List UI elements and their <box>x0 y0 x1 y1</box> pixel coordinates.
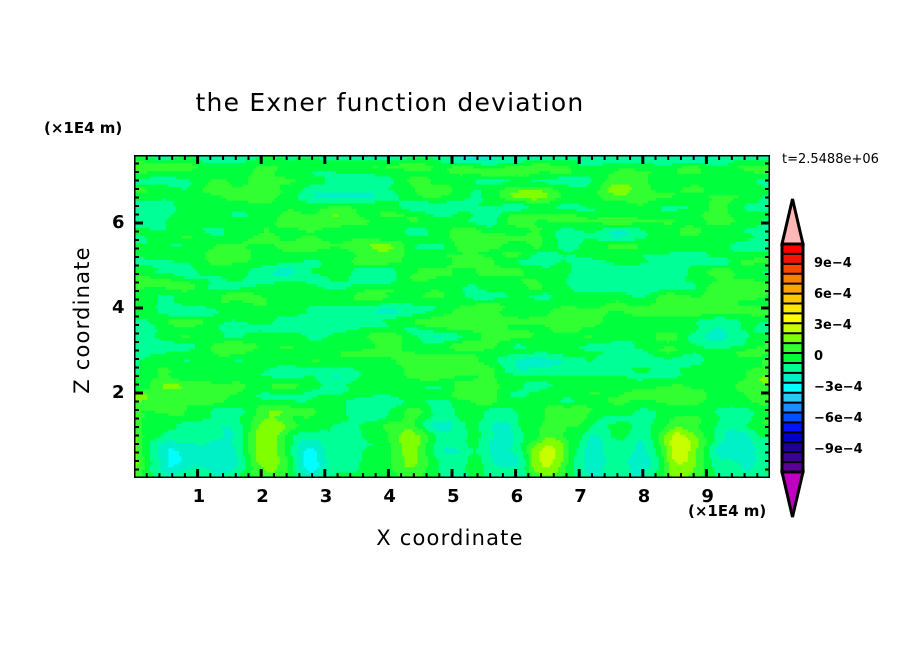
colorbar-tick-label: 0 <box>814 349 823 364</box>
colorbar-tick-label: 3e−4 <box>814 318 852 333</box>
x-axis-units-label: (×1E4 m) <box>688 502 766 520</box>
x-tick-label: 7 <box>574 486 587 507</box>
x-tick-label: 6 <box>511 486 524 507</box>
y-tick-label: 2 <box>112 382 125 403</box>
colorbar-svg <box>776 198 810 518</box>
x-tick-label: 3 <box>320 486 333 507</box>
y-tick-label: 6 <box>112 212 125 233</box>
colorbar-tick-label: −6e−4 <box>814 411 863 426</box>
x-tick-label: 2 <box>256 486 269 507</box>
y-axis-units-label: (×1E4 m) <box>44 119 122 137</box>
contour-svg <box>134 155 770 478</box>
timestamp-annotation: t=2.5488e+06 <box>782 152 879 167</box>
x-tick-label: 8 <box>638 486 651 507</box>
colorbar-tick-label: −3e−4 <box>814 380 863 395</box>
contour-plot-area[interactable] <box>134 155 770 478</box>
page-title: the Exner function deviation <box>0 88 780 117</box>
x-axis-title: X coordinate <box>280 526 620 550</box>
x-tick-label: 4 <box>383 486 396 507</box>
x-tick-label: 1 <box>193 486 206 507</box>
y-axis-title: Z coordinate <box>70 220 94 420</box>
colorbar-tick-label: 6e−4 <box>814 287 852 302</box>
colorbar-tick-label: −9e−4 <box>814 442 863 457</box>
x-tick-label: 5 <box>447 486 460 507</box>
y-tick-label: 4 <box>112 297 125 318</box>
colorbar-tick-label: 9e−4 <box>814 256 852 271</box>
figure-canvas: the Exner function deviation (×1E4 m) t=… <box>0 0 904 654</box>
colorbar[interactable] <box>776 198 810 518</box>
